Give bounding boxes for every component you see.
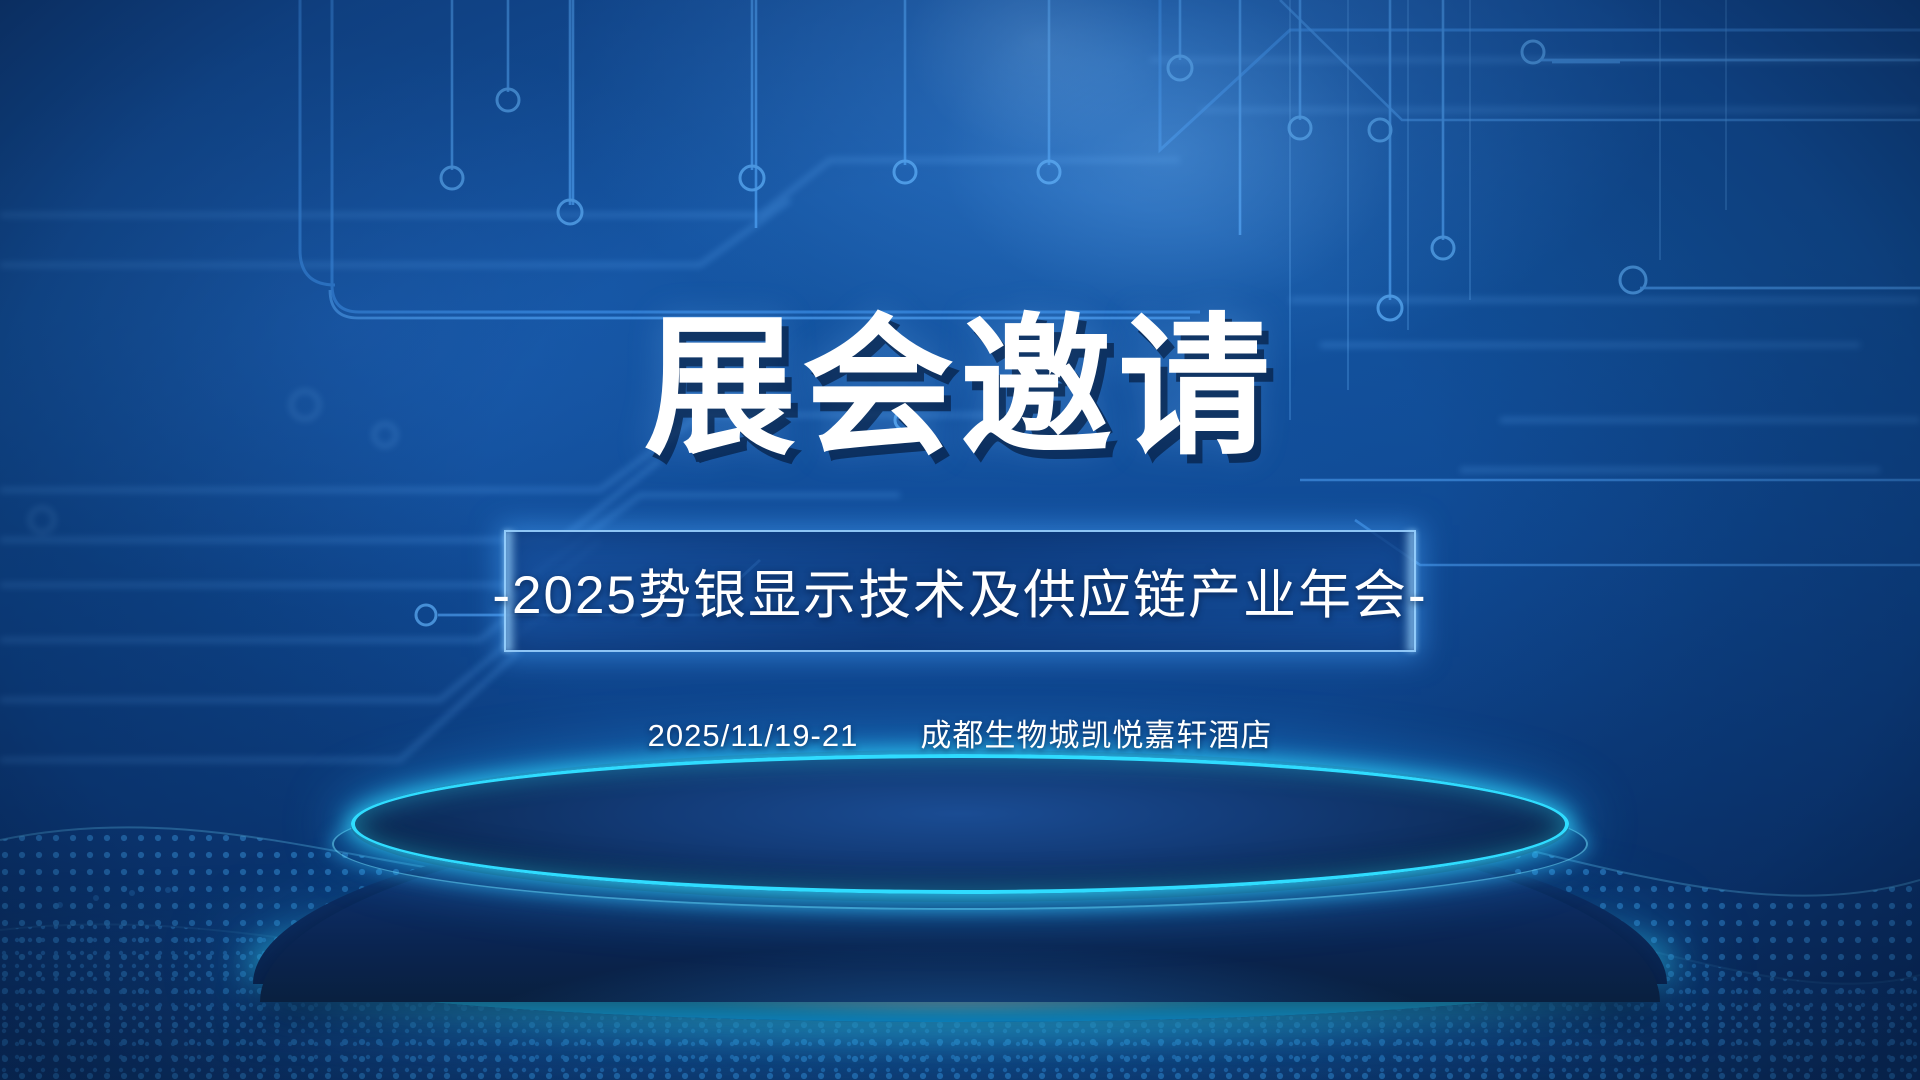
stage-podium (0, 750, 1920, 1080)
event-date: 2025/11/19-21 (648, 718, 859, 753)
event-meta: 2025/11/19-21成都生物城凯悦嘉轩酒店 (0, 710, 1920, 755)
invitation-poster: 展会邀请 -2025势银显示技术及供应链产业年会- 2025/11/19-21成… (0, 0, 1920, 1080)
subtitle-banner: -2025势银显示技术及供应链产业年会- (504, 530, 1416, 652)
page-title: 展会邀请 (0, 312, 1920, 464)
event-venue: 成都生物城凯悦嘉轩酒店 (920, 718, 1272, 753)
podium-top-ring (351, 754, 1569, 894)
subtitle-text: -2025势银显示技术及供应链产业年会- (492, 553, 1427, 629)
